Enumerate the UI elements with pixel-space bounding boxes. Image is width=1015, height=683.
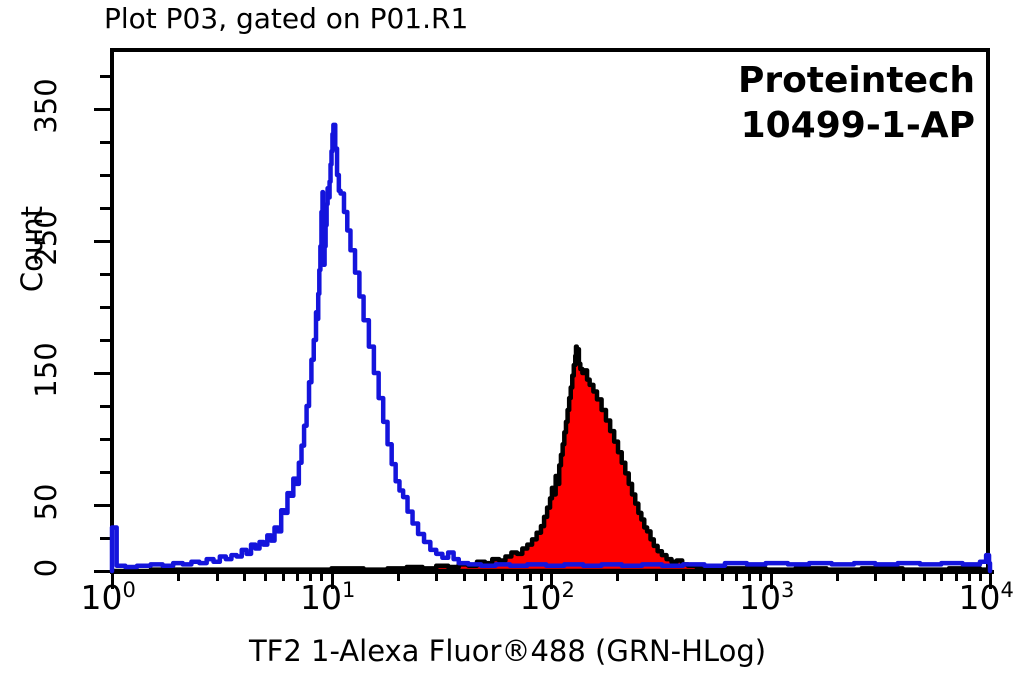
x-tick-minor-6000	[940, 572, 943, 581]
x-tick-minor-300	[655, 572, 658, 581]
y-tick-label-350: 350	[29, 61, 63, 151]
y-tick-minor-225	[100, 273, 110, 276]
y-tick-100	[100, 438, 110, 441]
x-tick-label-1: 100	[81, 578, 136, 617]
x-tick-minor-4	[243, 572, 246, 581]
y-tick-minor-125	[100, 405, 110, 408]
x-tick-minor-5	[264, 572, 267, 581]
x-tick-minor-9	[320, 572, 323, 581]
plot-frame	[110, 48, 990, 572]
y-tick-label-0: 0	[29, 523, 63, 613]
y-tick-minor-375	[100, 75, 110, 78]
x-tick-label-100: 102	[520, 578, 575, 617]
flow-cytometry-histogram: Plot P03, gated on P01.R1 Proteintech 10…	[0, 0, 1015, 683]
x-tick-minor-80	[529, 572, 532, 581]
x-tick-minor-3000	[874, 572, 877, 581]
x-tick-label-1000: 103	[739, 578, 794, 617]
x-axis-title: TF2 1-Alexa Fluor®488 (GRN-HLog)	[0, 634, 1015, 668]
y-tick-50	[94, 504, 110, 507]
x-tick-label-10000: 104	[959, 578, 1014, 617]
x-tick-minor-700	[735, 572, 738, 581]
x-tick-minor-70	[516, 572, 519, 581]
x-tick-minor-600	[721, 572, 724, 581]
x-tick-minor-900	[759, 572, 762, 581]
x-tick-minor-2000	[836, 572, 839, 581]
x-tick-minor-50	[484, 572, 487, 581]
x-tick-minor-6	[282, 572, 285, 581]
y-tick-minor-175	[100, 339, 110, 342]
y-tick-minor-25	[100, 537, 110, 540]
x-tick-minor-90	[540, 572, 543, 581]
x-tick-minor-7	[296, 572, 299, 581]
x-tick-minor-9000	[979, 572, 982, 581]
x-tick-minor-8	[309, 572, 312, 581]
y-tick-minor-75	[100, 471, 110, 474]
x-tick-minor-2	[177, 572, 180, 581]
x-tick-minor-3	[216, 572, 219, 581]
x-tick-minor-200	[616, 572, 619, 581]
y-tick-150	[94, 372, 110, 375]
x-tick-minor-8000	[968, 572, 971, 581]
x-tick-minor-60	[501, 572, 504, 581]
x-tick-minor-800	[748, 572, 751, 581]
x-tick-minor-4000	[902, 572, 905, 581]
x-tick-label-10: 101	[300, 578, 355, 617]
x-tick-minor-7000	[955, 572, 958, 581]
x-tick-minor-30	[435, 572, 438, 581]
y-tick-300	[100, 174, 110, 177]
y-tick-label-150: 150	[29, 325, 63, 415]
y-tick-minor-275	[100, 207, 110, 210]
x-tick-minor-400	[682, 572, 685, 581]
plot-title: Plot P03, gated on P01.R1	[104, 2, 468, 35]
x-tick-minor-20	[397, 572, 400, 581]
y-tick-minor-325	[100, 141, 110, 144]
y-tick-label-250: 250	[29, 193, 63, 283]
x-tick-minor-500	[703, 572, 706, 581]
y-tick-200	[100, 306, 110, 309]
y-tick-250	[94, 240, 110, 243]
x-tick-minor-5000	[923, 572, 926, 581]
y-tick-350	[94, 108, 110, 111]
x-tick-minor-40	[463, 572, 466, 581]
y-tick-0	[94, 570, 110, 573]
